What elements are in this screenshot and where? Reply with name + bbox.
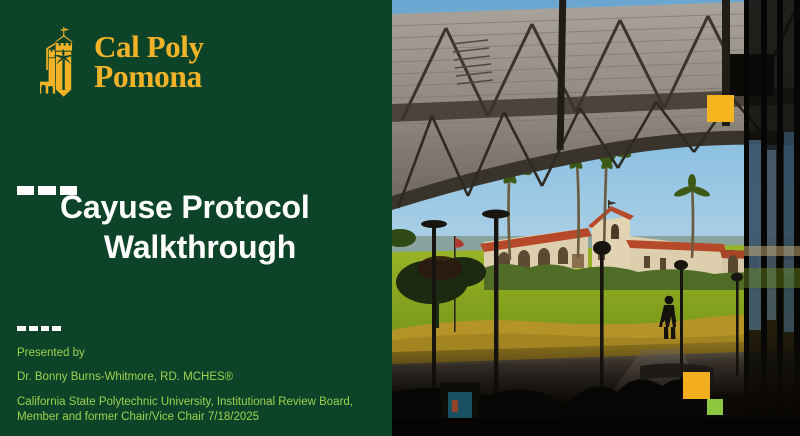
credit-dash-4: [52, 326, 61, 331]
accent-square-gold-top: [707, 95, 734, 122]
cal-poly-pomona-tower-emblem: [34, 26, 90, 98]
presenter-name: Dr. Bonny Burns-Whitmore, RD. MCHES®: [17, 370, 357, 385]
campus-photo: [392, 0, 800, 436]
accent-square-green: [707, 399, 723, 415]
presenter-affiliation: California State Polytechnic University,…: [17, 395, 357, 424]
cal-poly-pomona-logo: Cal Poly Pomona: [34, 26, 274, 100]
title-slide: Cal Poly Pomona Cayuse Protocol Walkthro…: [0, 0, 800, 436]
credit-dash-1: [17, 326, 26, 331]
credit-block: Presented by Dr. Bonny Burns-Whitmore, R…: [17, 346, 357, 424]
logo-wordmark-line1: Cal Poly: [94, 32, 274, 62]
title-dash-1: [17, 186, 34, 195]
page-title-line2: Walkthrough: [60, 228, 380, 268]
credit-dash-2: [29, 326, 38, 331]
presented-by-label: Presented by: [17, 346, 357, 361]
logo-wordmark-line2: Pomona: [94, 62, 274, 92]
campus-photo-illustration: [392, 0, 800, 436]
credit-dash-rule: [17, 326, 61, 331]
title-dash-2: [38, 186, 55, 195]
accent-square-gold-bottom: [683, 372, 710, 399]
left-content-panel: Cal Poly Pomona Cayuse Protocol Walkthro…: [0, 0, 392, 436]
page-title: Cayuse Protocol Walkthrough: [60, 188, 380, 267]
page-title-line1: Cayuse Protocol: [60, 188, 380, 228]
credit-dash-3: [41, 326, 50, 331]
logo-wordmark: Cal Poly Pomona: [94, 32, 274, 92]
